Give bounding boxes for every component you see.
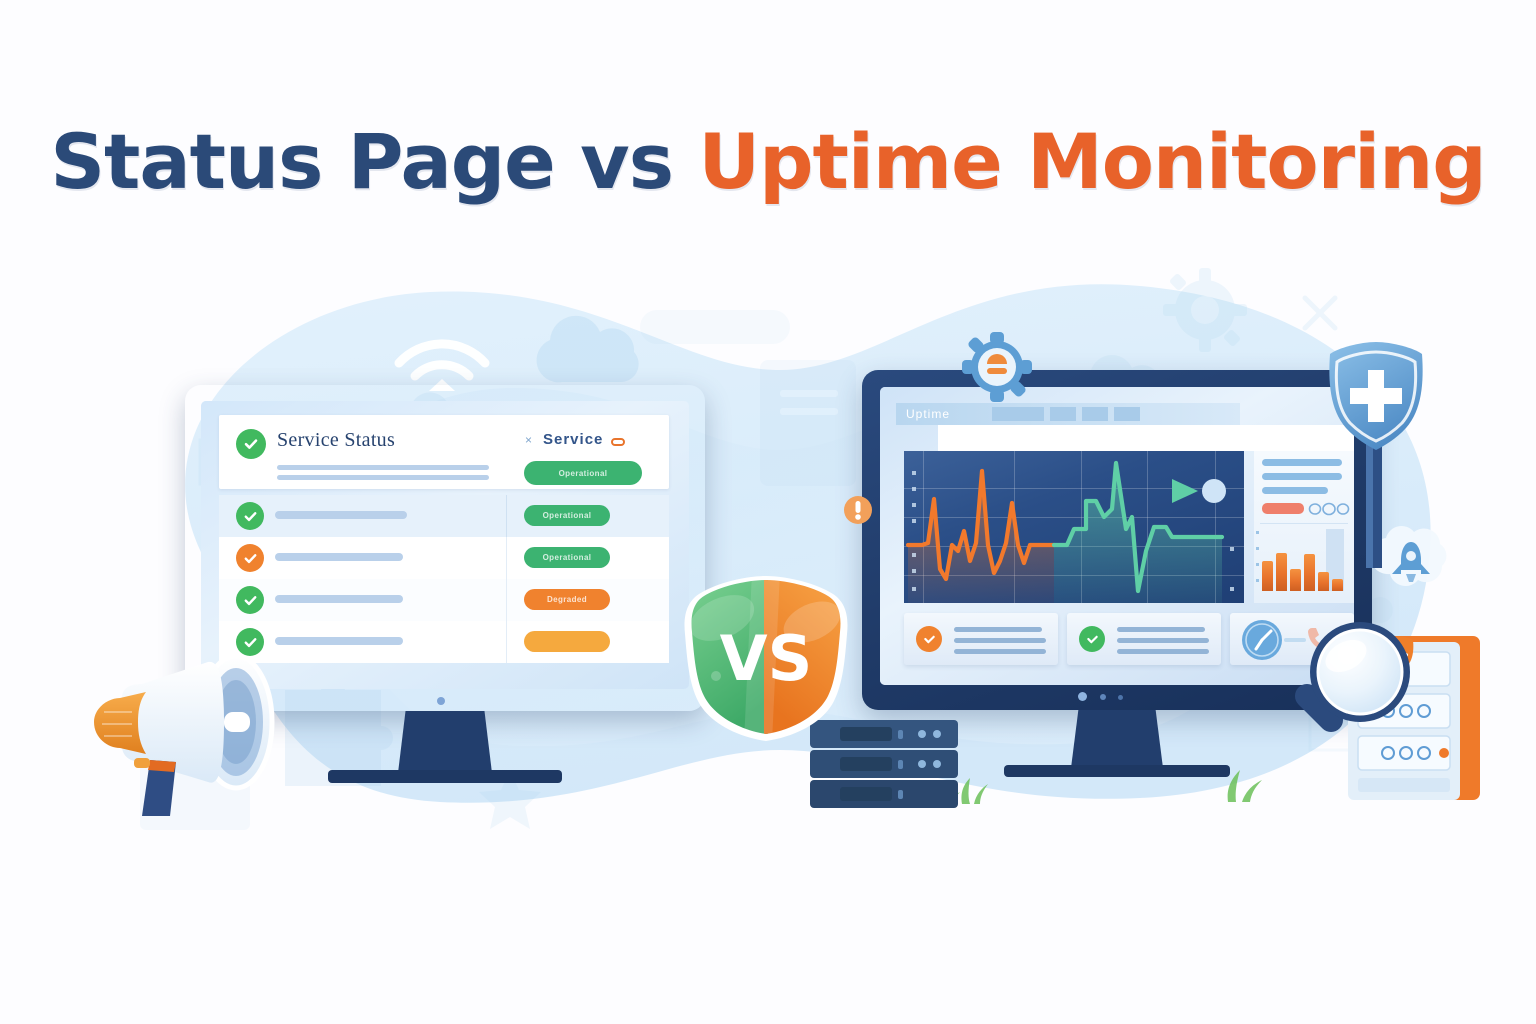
sidebar-axis-ticks (1254, 527, 1262, 593)
uptime-monitor-stand-base (1004, 765, 1230, 777)
brand-label: Service (543, 431, 603, 448)
table-row[interactable]: Degraded (219, 579, 669, 621)
row-status-icon (236, 586, 264, 614)
header-text-line-1 (277, 465, 489, 470)
uptime-monitor-stand-neck (1071, 710, 1163, 768)
sidebar-line (1262, 487, 1328, 494)
brand-x-icon: × (525, 433, 532, 447)
row-divider (506, 495, 507, 537)
row-label (275, 595, 403, 603)
status-monitor-led (437, 697, 445, 705)
row-divider (506, 579, 507, 621)
status-monitor-stand-neck (398, 711, 492, 773)
row-progress-badge[interactable] (524, 631, 610, 652)
page-title-accent: Uptime Monitoring (698, 117, 1485, 206)
wifi-icon (387, 327, 497, 391)
sidebar-bar (1332, 579, 1343, 591)
brand-accent-dot (611, 438, 625, 446)
card-line (954, 627, 1042, 632)
page-title: Status Page vs Uptime Monitoring (0, 124, 1536, 200)
sidebar-bar (1276, 553, 1287, 591)
header-text-line-2 (277, 475, 489, 480)
sidebar-alert-bar[interactable] (1262, 503, 1304, 514)
sidebar-bar (1318, 572, 1329, 591)
status-header-title: Service Status (277, 429, 395, 452)
illustration-canvas: Status Page vs Uptime Monitoring Service… (0, 0, 1536, 1024)
table-row[interactable]: Operational (219, 537, 669, 579)
header-status-badge[interactable]: Operational (524, 461, 642, 485)
uptime-monitor-led (1118, 695, 1123, 700)
sidebar-bar (1304, 554, 1315, 591)
megaphone (58, 620, 298, 820)
uptime-monitor-led (1078, 692, 1087, 701)
gauge-icon (1240, 618, 1284, 662)
status-monitor-stand-base (328, 770, 562, 783)
metric-card[interactable] (1067, 613, 1221, 665)
navbar-tab[interactable] (1050, 407, 1076, 421)
navbar-tab[interactable] (1082, 407, 1108, 421)
navbar-tab[interactable] (992, 407, 1044, 421)
card-line (1117, 638, 1209, 643)
row-status-badge[interactable]: Operational (524, 547, 610, 568)
sidebar-bar (1262, 561, 1273, 591)
vs-badge-label: VS (720, 622, 813, 695)
chart-status-dot (1202, 479, 1226, 503)
grass-decor (1214, 762, 1284, 802)
card-line (1117, 627, 1205, 632)
page-title-primary: Status Page vs (50, 117, 698, 206)
row-status-icon (236, 544, 264, 572)
uptime-navbar: Uptime (896, 403, 1240, 425)
status-header-card: Service Status × Service Operational (219, 415, 669, 489)
card-line (954, 638, 1046, 643)
card-status-icon (916, 626, 942, 652)
sidebar-bar (1290, 569, 1301, 591)
row-label (275, 511, 407, 519)
vs-badge: VS (676, 572, 856, 742)
row-status-badge[interactable]: Operational (524, 505, 610, 526)
magnifying-glass (1282, 608, 1442, 768)
metric-card[interactable] (904, 613, 1058, 665)
header-check-icon (236, 429, 266, 459)
card-line (1117, 649, 1209, 654)
gear-badge (962, 332, 1032, 402)
row-status-badge[interactable]: Degraded (524, 589, 610, 610)
card-line (954, 649, 1046, 654)
health-shield (1322, 338, 1432, 568)
uptime-content-panel (938, 425, 1354, 451)
row-label (275, 553, 403, 561)
card-status-icon (1079, 626, 1105, 652)
navbar-tab[interactable] (1114, 407, 1140, 421)
navbar-label: Uptime (906, 407, 950, 421)
uptime-monitor-led (1100, 694, 1106, 700)
row-divider (506, 537, 507, 579)
chart-play-icon (1172, 479, 1198, 503)
response-time-chart[interactable] (904, 451, 1244, 603)
row-status-icon (236, 502, 264, 530)
row-divider (506, 621, 507, 663)
table-row[interactable]: Operational (219, 495, 669, 537)
alert-badge (842, 494, 874, 526)
chart-series-svg (904, 451, 1244, 603)
